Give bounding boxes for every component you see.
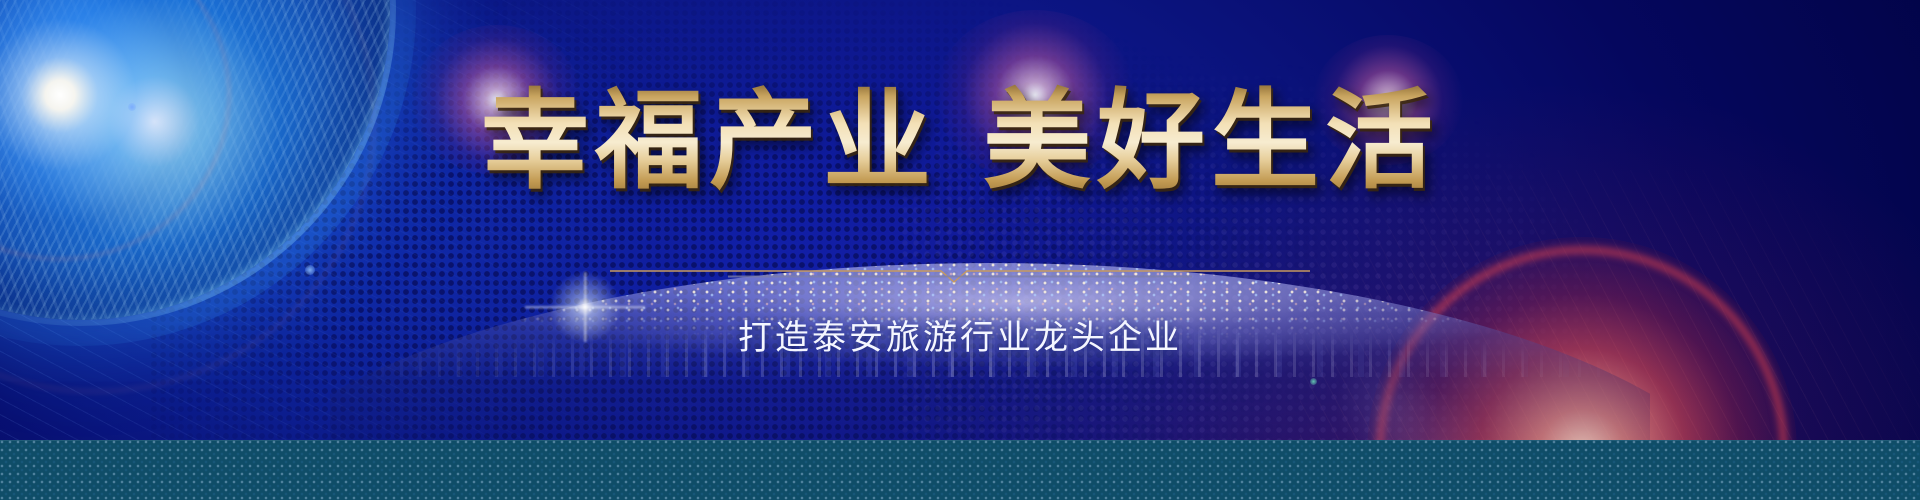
city-horizon-arc	[330, 263, 1650, 465]
halftone-world-map-texture	[150, 0, 1550, 460]
diagonal-light-streaks	[0, 0, 940, 500]
earth-body	[0, 0, 390, 320]
earth-atmosphere-glow	[0, 0, 416, 346]
headline-glow-center	[935, 10, 1135, 180]
sun-flare-graphic	[0, 0, 210, 245]
red-sunrise-halo	[1110, 80, 1920, 500]
subtitle-text: 打造泰安旅游行业龙头企业	[738, 310, 1182, 359]
headline-glow-right	[1313, 35, 1463, 165]
earth-globe-graphic	[0, 0, 390, 320]
chevron-down-divider-icon	[610, 262, 1310, 288]
subtitle: 打造泰安旅游行业龙头企业	[0, 310, 1920, 359]
earth-clouds	[0, 0, 390, 320]
lens-flare-ring-inner	[0, 0, 230, 260]
headline: 幸福产业美好生活	[0, 82, 1920, 203]
hero-banner: 幸福产业美好生活 打造泰安旅游行业龙头企业	[0, 0, 1920, 500]
night-city-skyline-graphic	[330, 255, 1650, 465]
sparkle-dot-center	[305, 265, 315, 275]
halftone-secondary-texture	[900, 40, 1800, 460]
city-light-starburst	[530, 255, 640, 362]
headline-glow-group	[0, 0, 1920, 260]
city-towers	[330, 257, 1650, 377]
bottom-teal-band	[0, 440, 1920, 500]
sparkle-dot-left	[128, 103, 136, 111]
city-lights	[330, 263, 1650, 465]
earth-rim-highlight	[0, 0, 396, 326]
headline-part-1: 幸福产业	[481, 82, 937, 203]
sparkle-dot-right	[1310, 378, 1317, 385]
red-sunrise-rays	[1300, 170, 1920, 470]
headline-glow-left	[412, 25, 582, 175]
headline-part-2: 美好生活	[983, 82, 1439, 203]
lens-flare-ring-outer	[0, 0, 375, 393]
